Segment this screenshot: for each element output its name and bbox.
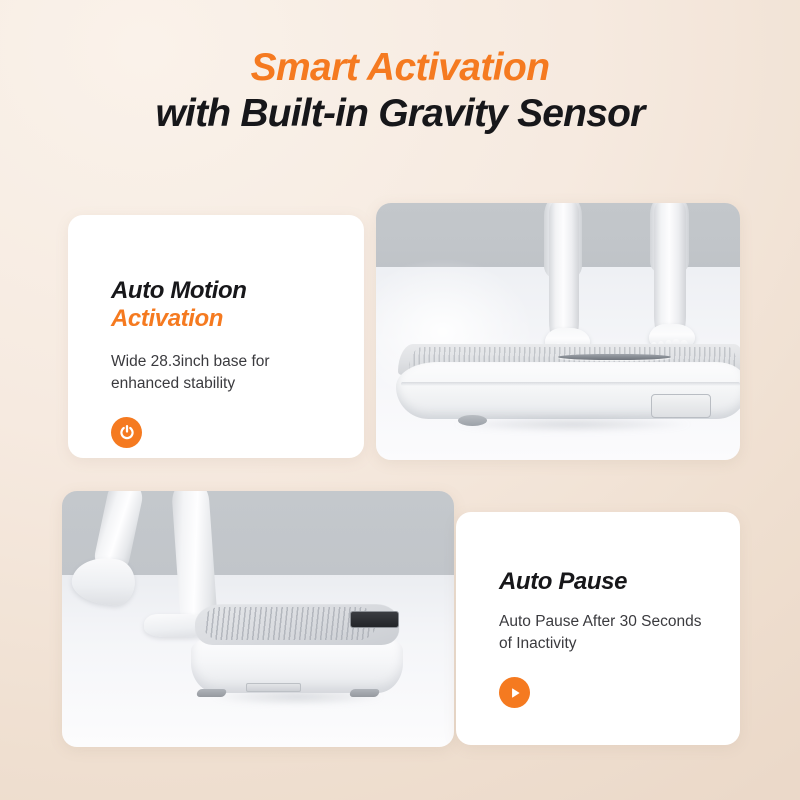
infographic-page: Smart Activation with Built-in Gravity S…: [0, 0, 800, 800]
card-content: Auto Motion Activation Wide 28.3inch bas…: [111, 277, 342, 448]
power-icon: [111, 417, 142, 448]
leg-right: [654, 203, 685, 342]
plate-rear-vent: [246, 683, 301, 692]
play-icon: [499, 677, 530, 708]
card-heading-primary: Auto Motion: [111, 277, 342, 305]
plate-seam-line: [401, 382, 740, 386]
page-title-line-2: with Built-in Gravity Sensor: [0, 92, 800, 136]
control-panel: [651, 394, 711, 417]
card-heading-primary: Auto Pause: [499, 568, 718, 596]
product-photo-feet-on-plate: [376, 203, 740, 460]
plate-foot-pad-right: [349, 689, 381, 697]
product-photo-plate-angle: [62, 491, 454, 747]
led-display-icon: [350, 611, 399, 628]
plate-foot-pad-left: [196, 689, 228, 697]
card-description: Auto Pause After 30 Seconds of Inactivit…: [499, 611, 714, 655]
card-heading-accent: Activation: [111, 305, 342, 333]
card-description: Wide 28.3inch base for enhanced stabilit…: [111, 351, 326, 395]
feature-card-auto-pause: Auto Pause Auto Pause After 30 Seconds o…: [456, 512, 740, 745]
page-title: Smart Activation with Built-in Gravity S…: [0, 46, 800, 135]
leg-left: [549, 203, 580, 347]
card-content: Auto Pause Auto Pause After 30 Seconds o…: [499, 568, 718, 708]
plate-floor-shadow: [412, 416, 732, 437]
feature-card-auto-motion-activation: Auto Motion Activation Wide 28.3inch bas…: [68, 215, 364, 458]
page-title-line-1: Smart Activation: [0, 46, 800, 90]
